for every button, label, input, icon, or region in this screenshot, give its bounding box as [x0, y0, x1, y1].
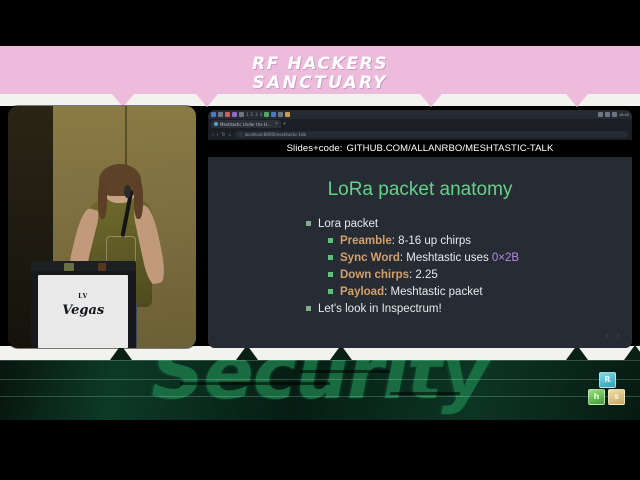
sub-bullet-value: Meshtastic uses	[406, 252, 492, 264]
bullet-item: Lora packet	[306, 217, 632, 231]
sub-bullet-text: Preamble: 8-16 up chirps	[340, 234, 471, 248]
header-title: RF HACKERS SANCTUARY	[0, 55, 640, 93]
slides-label: Slides+code:	[287, 143, 343, 154]
logo-block-h: h	[588, 389, 605, 405]
torn-edge-bottom	[0, 346, 640, 360]
glitch-bar	[180, 382, 330, 385]
address-bar[interactable]: ⓘ localhost:8000/meshtastic-talk	[235, 131, 628, 138]
sub-bullet-label: Payload	[340, 286, 384, 298]
sync-word-hex: 0×2B	[492, 252, 519, 264]
bullet-marker-icon	[328, 238, 333, 243]
header-title-line1: RF HACKERS	[0, 55, 640, 74]
back-icon[interactable]: ‹	[212, 132, 214, 138]
sub-bullet-text: Payload: Meshtastic packet	[340, 285, 483, 299]
sub-bullet-label: Preamble	[340, 235, 392, 247]
bullet-marker-icon	[306, 221, 311, 226]
bullet-text: Lora packet	[318, 217, 378, 231]
slide-bullet-list: Lora packet Preamble: 8-16 up chirps Syn…	[306, 217, 632, 316]
workspace-1[interactable]: 1	[246, 112, 249, 117]
forward-icon[interactable]: ›	[217, 132, 219, 138]
taskbar-app-icon[interactable]	[271, 112, 276, 117]
browser-tab-strip[interactable]: Meshtastic Under the H… × +	[208, 119, 632, 129]
home-icon[interactable]: ⌂	[229, 132, 232, 138]
logo-block-s: s	[608, 389, 625, 405]
podium-equipment-detail	[64, 263, 73, 270]
taskbar-app-icon[interactable]	[211, 112, 216, 117]
glitch-bar	[300, 370, 390, 373]
stream-layout: Security R h s RF HACKERS SANCTUARY	[0, 0, 640, 480]
torn-notch	[566, 94, 588, 107]
slide-navigation[interactable]: ‹ ›	[606, 330, 622, 342]
taskbar-app-icon[interactable]	[232, 112, 237, 117]
speaker-camera: LV Vegas	[8, 106, 196, 348]
os-taskbar[interactable]: 1 2 3 4 16:43	[208, 110, 632, 119]
workspace-4[interactable]: 4	[260, 112, 263, 117]
close-icon[interactable]: ×	[275, 121, 278, 127]
info-icon: ⓘ	[239, 132, 243, 138]
slides-url-overlay: Slides+code: GITHUB.COM/ALLANRBO/MESHTAS…	[208, 140, 632, 157]
taskbar-app-icon[interactable]	[218, 112, 223, 117]
presentation-slide: LoRa packet anatomy Lora packet Preamble…	[208, 157, 632, 348]
browser-omnibar[interactable]: ‹ › ↻ ⌂ ⓘ localhost:8000/meshtastic-talk	[208, 129, 632, 140]
speaker-hair-right	[134, 180, 143, 219]
browser-window[interactable]: 1 2 3 4 16:43 Meshtastic Under the H… × …	[208, 110, 632, 348]
speaker-hair-left	[98, 180, 107, 219]
sub-bullet-value: 8-16 up chirps	[398, 235, 471, 247]
scanline	[0, 396, 640, 397]
scanline	[0, 360, 640, 361]
sub-bullet-label: Down chirps	[340, 269, 409, 281]
shirt-print	[106, 236, 136, 264]
header-title-line2: SANCTUARY	[0, 74, 640, 93]
letterbox-top	[0, 0, 640, 46]
sub-bullet-item: Preamble: 8-16 up chirps	[328, 234, 632, 248]
browser-tab-active[interactable]: Meshtastic Under the H… ×	[211, 120, 281, 128]
sub-bullet-item: Down chirps: 2.25	[328, 268, 632, 282]
bullet-text: Let's look in Inspectrum!	[318, 302, 442, 316]
bullet-marker-icon	[306, 306, 311, 311]
slide-next-icon[interactable]: ›	[616, 330, 622, 342]
torn-notch	[196, 94, 218, 107]
sub-bullet-value: 2.25	[415, 269, 437, 281]
sub-bullet-text: Sync Word: Meshtastic uses 0×2B	[340, 251, 519, 265]
address-bar-value: localhost:8000/meshtastic-talk	[245, 132, 307, 137]
bullet-marker-icon	[328, 272, 333, 277]
podium-vegas-text: Vegas	[62, 303, 104, 318]
taskbar-app-icon[interactable]	[239, 112, 244, 117]
workspace-2[interactable]: 2	[251, 112, 254, 117]
security-background-band: Security	[0, 352, 640, 420]
letterbox-bottom	[0, 420, 640, 480]
taskbar-app-icon[interactable]	[278, 112, 283, 117]
bullet-item: Let's look in Inspectrum!	[306, 302, 632, 316]
taskbar-app-icon[interactable]	[264, 112, 269, 117]
taskbar-app-icon[interactable]	[225, 112, 230, 117]
podium-equipment-detail	[98, 263, 106, 270]
torn-notch	[420, 94, 442, 107]
reload-icon[interactable]: ↻	[221, 132, 225, 138]
scanline	[0, 379, 640, 380]
bullet-marker-icon	[328, 255, 333, 260]
glitch-bar	[390, 392, 460, 395]
tray-icon[interactable]	[598, 112, 603, 117]
slide-prev-icon[interactable]: ‹	[606, 330, 612, 342]
bullet-marker-icon	[328, 289, 333, 294]
microphone-head	[124, 185, 131, 198]
rfhs-block-logo: R h s	[586, 372, 630, 412]
tray-icon[interactable]	[612, 112, 617, 117]
slide-title: LoRa packet anatomy	[208, 157, 632, 201]
slides-url: GITHUB.COM/ALLANRBO/MESHTASTIC-TALK	[346, 143, 553, 154]
browser-tab-title: Meshtastic Under the H…	[220, 122, 271, 127]
sub-bullet-value: Meshtastic packet	[391, 286, 483, 298]
workspace-3[interactable]: 3	[255, 112, 258, 117]
taskbar-clock: 16:43	[619, 112, 629, 117]
favicon-icon	[214, 122, 218, 126]
torn-edge-header	[0, 94, 640, 106]
podium-vegas-logo: LV Vegas	[38, 290, 128, 318]
sub-bullet-item: Sync Word: Meshtastic uses 0×2B	[328, 251, 632, 265]
logo-block-r: R	[599, 372, 616, 388]
tray-icon[interactable]	[605, 112, 610, 117]
sub-bullet-item: Payload: Meshtastic packet	[328, 285, 632, 299]
sub-bullet-label: Sync Word	[340, 252, 400, 264]
podium-lv-mark: LV	[38, 290, 128, 304]
new-tab-button[interactable]: +	[283, 121, 286, 127]
taskbar-app-icon[interactable]	[285, 112, 290, 117]
sub-bullet-text: Down chirps: 2.25	[340, 268, 438, 282]
